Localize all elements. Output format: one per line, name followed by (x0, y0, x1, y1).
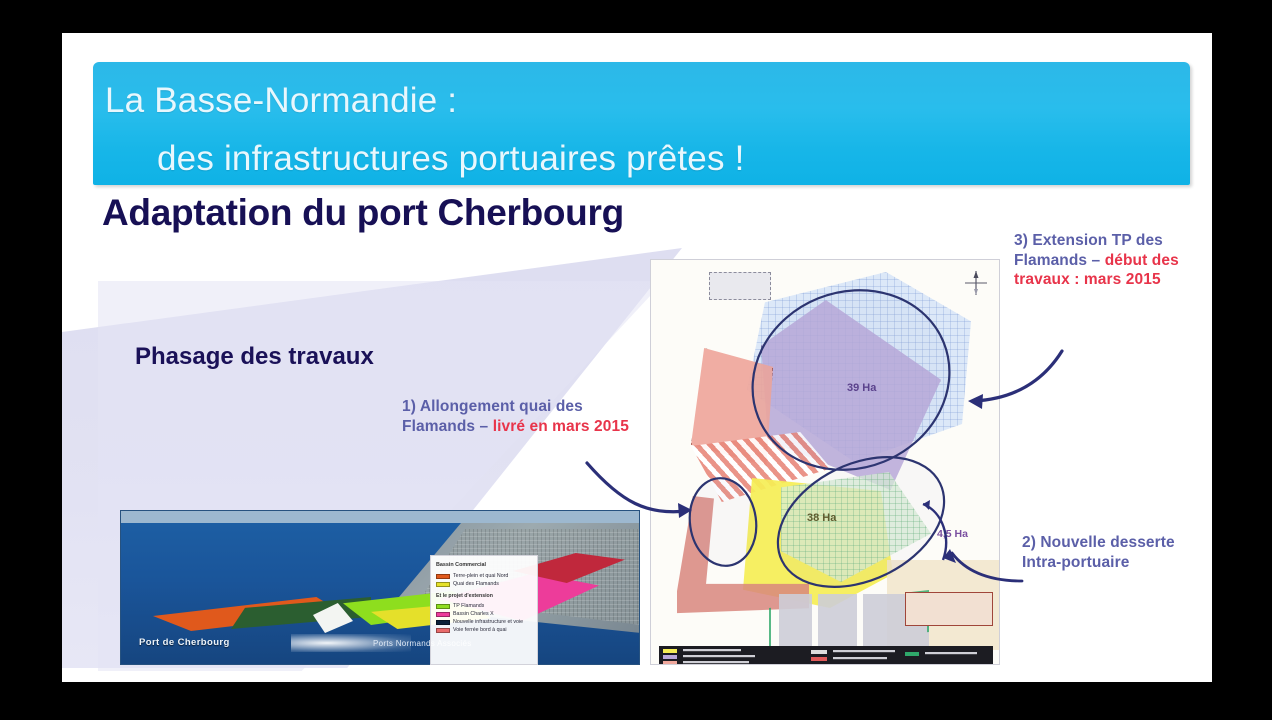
legend-swatch (436, 604, 450, 609)
legend-swatch (436, 612, 450, 617)
page-title: Adaptation du port Cherbourg (102, 192, 624, 234)
legend-swatch (436, 574, 450, 579)
legend-row: Quai des Flamands (436, 581, 532, 589)
port-plan-map: 39 Ha 38 Ha 4,5 Ha (650, 259, 1000, 665)
legend-label: Quai des Flamands (453, 580, 499, 589)
map-annotation-overlay (651, 260, 1000, 665)
legend-swatch (436, 582, 450, 587)
annotation-3-text: 3) Extension TP des Flamands – début des… (1014, 231, 1184, 290)
phasage-label: Phasage des travaux (135, 334, 395, 380)
annotation-2-text: 2) Nouvelle desserte Intra-portuaire (1022, 533, 1182, 572)
title-banner: La Basse-Normandie : des infrastructures… (93, 62, 1190, 185)
aerial-photo-port: Port de Cherbourg Ports Normands Associé… (120, 510, 640, 665)
legend-label: Voie ferrée bord à quai (453, 626, 507, 635)
legend-subtitle: Et le projet d'extension (436, 592, 532, 601)
banner-line-2: des infrastructures portuaires prêtes ! (105, 130, 1190, 188)
annotation-1-text: 1) Allongement quai des Flamands – livré… (402, 397, 652, 436)
photo-caption: Port de Cherbourg (139, 637, 230, 648)
annotation-2-normal: 2) Nouvelle desserte Intra-portuaire (1022, 534, 1175, 571)
presentation-slide: La Basse-Normandie : des infrastructures… (62, 33, 1212, 682)
video-letterbox-frame: La Basse-Normandie : des infrastructures… (0, 0, 1272, 720)
legend-title: Bassin Commercial (436, 561, 532, 570)
legend-swatch (436, 620, 450, 625)
annotation-1-highlight: livré en mars 2015 (493, 418, 629, 435)
legend-row: Voie ferrée bord à quai (436, 626, 532, 634)
banner-line-1: La Basse-Normandie : (105, 72, 1190, 130)
legend-swatch (436, 628, 450, 633)
photo-legend-box: Bassin Commercial Terre-plein et quai No… (430, 555, 538, 665)
